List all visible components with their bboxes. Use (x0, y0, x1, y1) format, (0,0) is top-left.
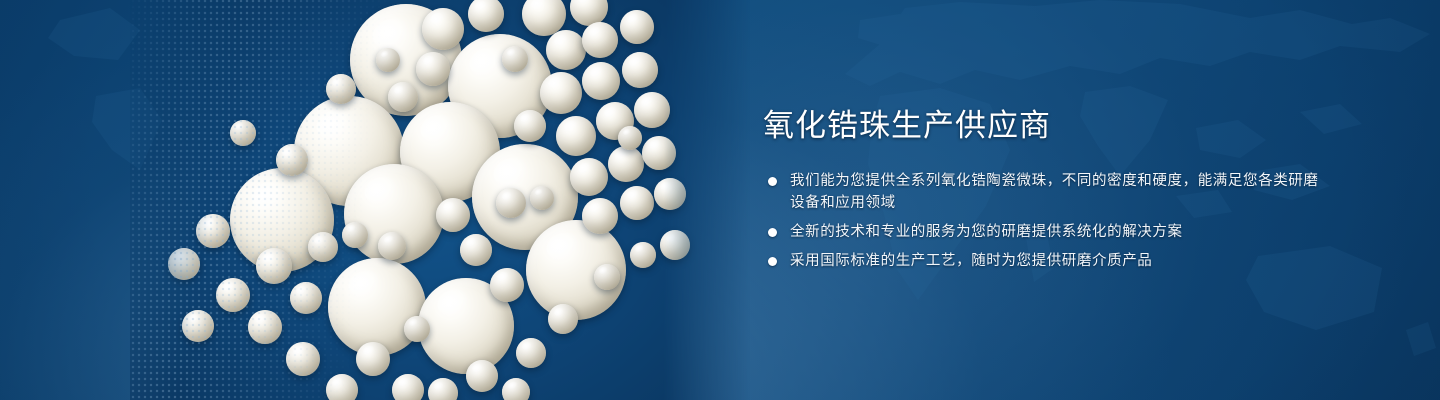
list-item: 我们能为您提供全系列氧化锆陶瓷微珠，不同的密度和硬度，能满足您各类研磨设备和应用… (763, 170, 1323, 214)
banner-headline: 氧化锆珠生产供应商 (763, 108, 1323, 144)
hero-banner: 氧化锆珠生产供应商 我们能为您提供全系列氧化锆陶瓷微珠，不同的密度和硬度，能满足… (0, 0, 1440, 400)
bullet-dot-icon (768, 228, 777, 237)
list-item: 采用国际标准的生产工艺，随时为您提供研磨介质产品 (763, 250, 1323, 272)
zirconia-beads-photo (130, 0, 750, 400)
bullet-text: 全新的技术和专业的服务为您的研磨提供系统化的解决方案 (790, 224, 1183, 240)
bullet-text: 采用国际标准的生产工艺，随时为您提供研磨介质产品 (790, 253, 1152, 269)
bullet-text: 我们能为您提供全系列氧化锆陶瓷微珠，不同的密度和硬度，能满足您各类研磨设备和应用… (790, 173, 1319, 211)
list-item: 全新的技术和专业的服务为您的研磨提供系统化的解决方案 (763, 221, 1323, 243)
bullet-dot-icon (768, 257, 777, 266)
banner-content: 氧化锆珠生产供应商 我们能为您提供全系列氧化锆陶瓷微珠，不同的密度和硬度，能满足… (763, 108, 1323, 272)
banner-bullet-list: 我们能为您提供全系列氧化锆陶瓷微珠，不同的密度和硬度，能满足您各类研磨设备和应用… (763, 170, 1323, 272)
halftone-texture (130, 0, 750, 400)
bullet-dot-icon (768, 177, 777, 186)
